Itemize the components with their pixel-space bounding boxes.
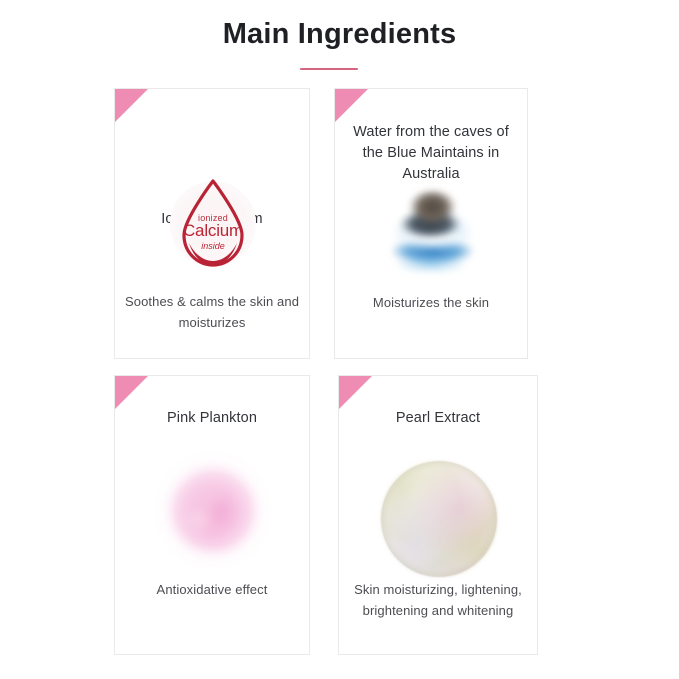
ingredient-card-cave-water[interactable]: Water from the caves of the Blue Maintai… — [334, 88, 528, 359]
corner-ribbon-icon — [335, 89, 368, 122]
ingredient-card-ionized-calcium[interactable]: Ionized calcium ionized Calcium inside S… — [114, 88, 310, 359]
water-drop-icon — [180, 177, 246, 269]
ingredients-infographic: Main Ingredients Ionized calcium ionized… — [0, 0, 679, 679]
corner-ribbon-icon — [339, 376, 372, 409]
image-vignette — [159, 456, 267, 564]
corner-ribbon-icon — [115, 376, 148, 409]
page-title: Main Ingredients — [0, 16, 679, 52]
card-title: Water from the caves of the Blue Maintai… — [345, 122, 517, 185]
card-description: Soothes & calms the skin and moisturizes — [123, 291, 301, 333]
title-divider — [300, 68, 358, 70]
ionized-calcium-drop-logo: ionized Calcium inside — [166, 175, 260, 273]
card-description: Moisturizes the skin — [343, 292, 519, 313]
image-vignette — [376, 178, 489, 291]
card-description: Skin moisturizing, lightening, brighteni… — [347, 579, 529, 621]
pink-plankton-photo — [165, 462, 261, 558]
corner-ribbon-icon — [115, 89, 148, 122]
card-description: Antioxidative effect — [123, 579, 301, 600]
cave-water-photo — [380, 182, 485, 287]
card-title: Pearl Extract — [349, 408, 527, 429]
ingredient-card-pearl-extract[interactable]: Pearl Extract Skin moisturizing, lighten… — [338, 375, 538, 655]
ingredient-card-pink-plankton[interactable]: Pink Plankton Antioxidative effect — [114, 375, 310, 655]
card-title: Pink Plankton — [125, 408, 299, 429]
pearl-extract-photo — [381, 461, 497, 577]
image-edge-shading — [381, 461, 497, 577]
